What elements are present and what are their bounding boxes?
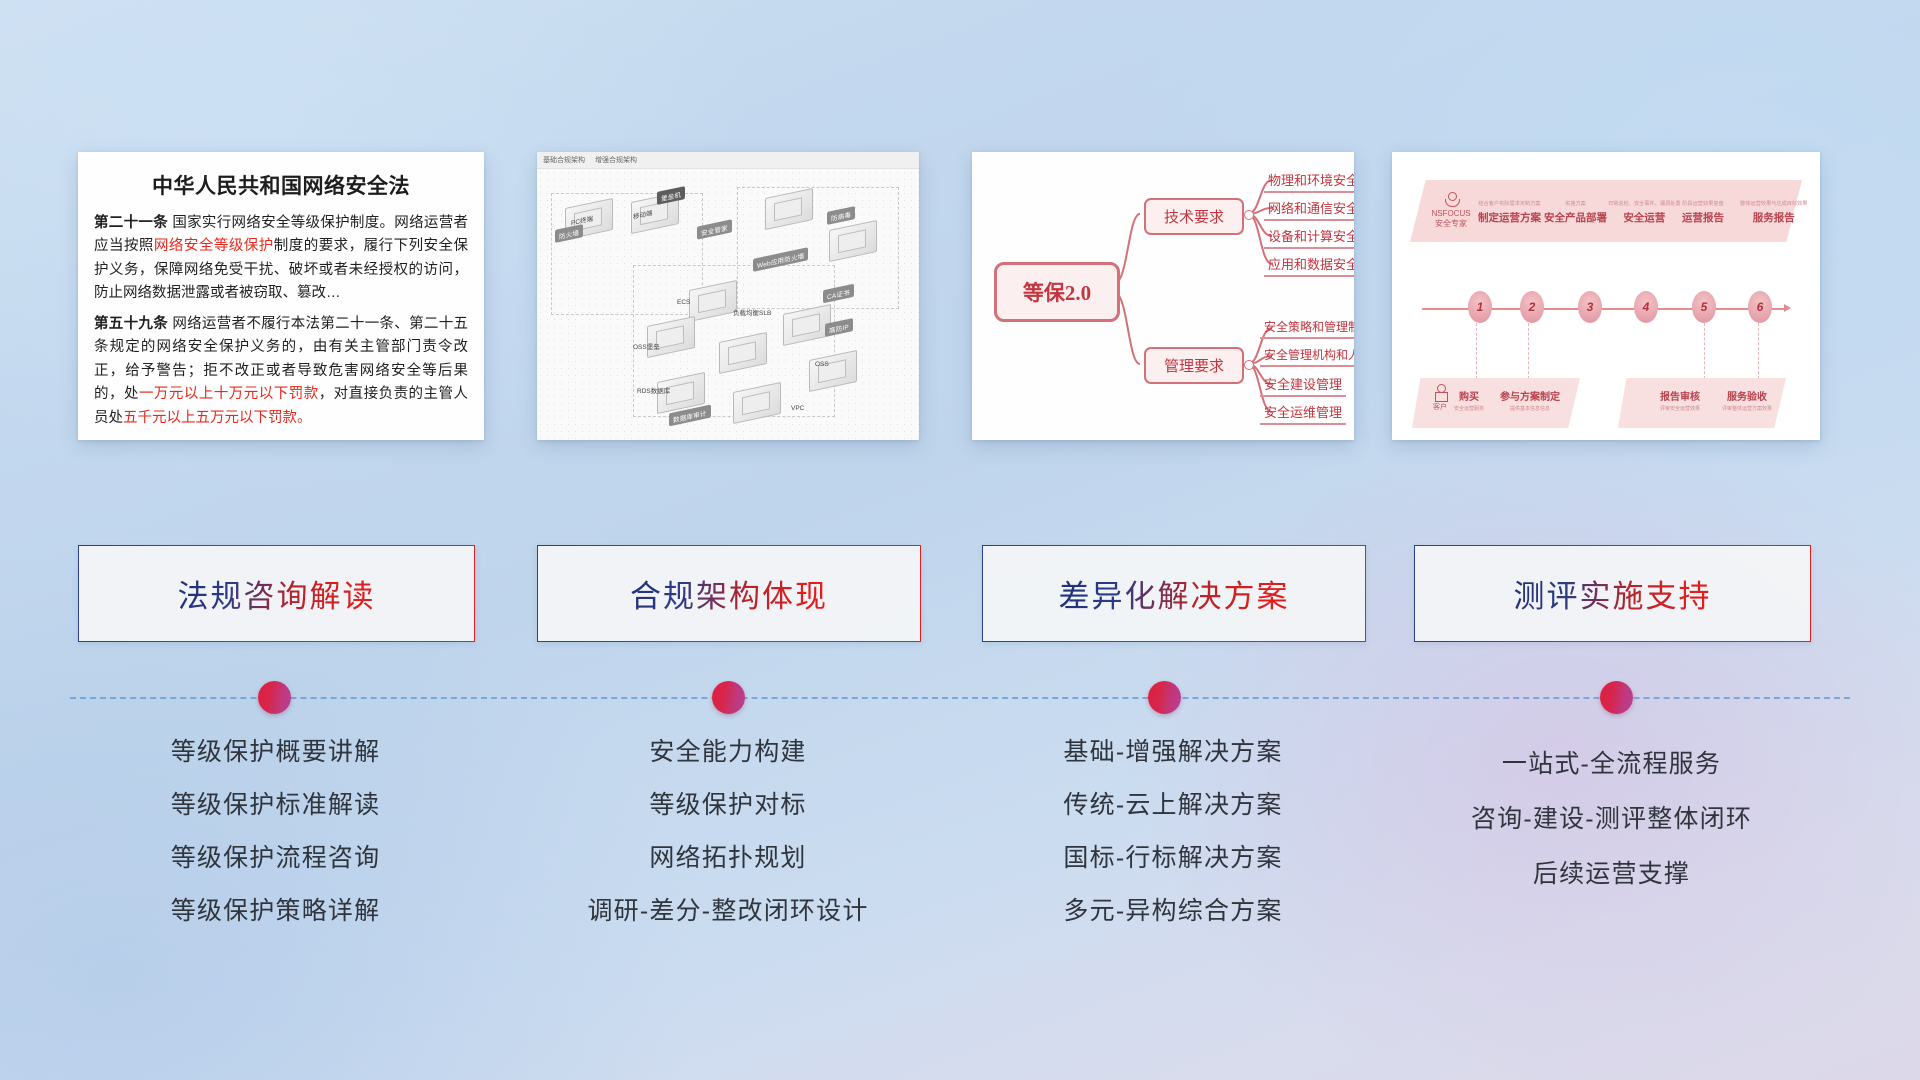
law-article-21: 第二十一条 国家实行网络安全等级保护制度。网络运营者应当按照网络安全等级保护制度… <box>94 212 468 306</box>
timeline-node-3[interactable] <box>1148 681 1181 714</box>
timeline-marker[interactable]: 5 <box>1692 291 1716 323</box>
list-item: 等级保护标准解读 <box>78 793 473 818</box>
step-main: 运营报告 <box>1682 210 1724 225</box>
label-vpc: VPC <box>791 405 804 412</box>
timeline-dashed-line <box>70 697 1850 699</box>
card-cloud-architecture[interactable]: 基础合规架构 增强合规架构 <box>537 152 919 440</box>
timeline-leader <box>1476 323 1478 379</box>
list-item: 传统-云上解决方案 <box>982 793 1364 818</box>
label-oss-bastion: OSS堡垒 <box>633 341 660 351</box>
mindmap-leaf: 安全运维管理 <box>1260 402 1346 425</box>
slide-canvas: 中华人民共和国网络安全法 第二十一条 国家实行网络安全等级保护制度。网络运营者应… <box>0 0 1920 1080</box>
label-ecs: ECS <box>677 299 690 306</box>
architecture-toolbar: 基础合规架构 增强合规架构 <box>537 152 919 169</box>
timeline-marker[interactable]: 2 <box>1520 291 1544 323</box>
step-sub: 实施方案 <box>1544 200 1607 207</box>
law-title: 中华人民共和国网络安全法 <box>94 170 468 200</box>
list-item: 国标-行标解决方案 <box>982 846 1364 871</box>
step-sub: 日常巡检、安全事件、漏洞处置 <box>1608 200 1681 207</box>
label-slb: 负载均衡SLB <box>733 307 771 317</box>
list-item: 安全能力构建 <box>537 740 919 765</box>
section-header-label: 法规咨询解读 <box>178 571 376 616</box>
timeline-bottom-step: 购买 安全运营服务 <box>1454 388 1484 412</box>
mindmap-leaf: 安全策略和管理制度 <box>1260 318 1354 339</box>
article-59-highlight-2: 五千元以上五万元以下罚款。 <box>123 410 312 426</box>
timeline-top-step: 阶段运营效果复盘 运营报告 <box>1682 200 1724 225</box>
list-item: 等级保护概要讲解 <box>78 740 473 765</box>
customer-person-icon <box>1434 384 1447 401</box>
architecture-canvas: 堡垒机 防火墙 安全管家 防病毒 Web应用防火墙 CA证书 高防IP 数据库审… <box>537 169 919 440</box>
step-sub: 整体运营效果与达成目标效果 <box>1740 200 1807 207</box>
mindmap-branch-technical[interactable]: 技术要求 <box>1144 198 1244 235</box>
card-row: 中华人民共和国网络安全法 第二十一条 国家实行网络安全等级保护制度。网络运营者应… <box>0 0 1920 460</box>
section-header-label: 差异化解决方案 <box>1059 571 1290 616</box>
card-nsfocus-service-timeline[interactable]: NSFOCUS 安全专家 结合客户实际需求定制方案 制定运营方案 实施方案 安全… <box>1392 152 1820 440</box>
step-main: 安全运营 <box>1608 210 1681 225</box>
law-document: 中华人民共和国网络安全法 第二十一条 国家实行网络安全等级保护制度。网络运营者应… <box>78 152 484 440</box>
mindmap-leaf: 物理和环境安全 <box>1264 170 1354 193</box>
mindmap-leaf: 设备和计算安全 <box>1264 226 1354 249</box>
card-cybersecurity-law[interactable]: 中华人民共和国网络安全法 第二十一条 国家实行网络安全等级保护制度。网络运营者应… <box>78 152 484 440</box>
label-oss: OSS <box>815 361 829 368</box>
article-21-label: 第二十一条 <box>94 215 168 231</box>
expert-brand: NSFOCUS <box>1422 209 1480 219</box>
section-header-3[interactable]: 差异化解决方案 <box>982 545 1366 642</box>
law-article-59: 第五十九条 网络运营者不履行本法第二十一条、第二十五条规定的网络安全保护义务的，… <box>94 313 468 430</box>
article-59-label: 第五十九条 <box>94 316 168 332</box>
timeline-node-4[interactable] <box>1600 681 1633 714</box>
step-sub: 结合客户实际需求定制方案 <box>1478 200 1541 207</box>
step-main: 报告审核 <box>1660 388 1700 403</box>
list-item: 一站式-全流程服务 <box>1414 752 1809 777</box>
expert-badge: NSFOCUS 安全专家 <box>1422 192 1480 229</box>
mindmap-leaf: 安全建设管理 <box>1260 374 1346 397</box>
timeline-top-step: 实施方案 安全产品部署 <box>1544 200 1607 225</box>
step-sub: 评审整体运营方案效果 <box>1722 405 1772 412</box>
list-item: 调研-差分-整改闭环设计 <box>537 899 919 924</box>
timeline-leader <box>1758 323 1760 379</box>
feature-list-4: 一站式-全流程服务 咨询-建设-测评整体闭环 后续运营支撑 <box>1414 752 1809 917</box>
step-sub: 阶段运营效果复盘 <box>1682 200 1724 207</box>
timeline-bottom-step: 报告审核 评审安全运营效果 <box>1660 388 1700 412</box>
timeline-leader <box>1528 323 1530 379</box>
feature-list-2: 安全能力构建 等级保护对标 网络拓扑规划 调研-差分-整改闭环设计 <box>537 740 919 952</box>
list-item: 咨询-建设-测评整体闭环 <box>1414 807 1809 832</box>
expert-person-icon <box>1444 192 1459 207</box>
timeline-top-step: 整体运营效果与达成目标效果 服务报告 <box>1740 200 1807 225</box>
step-main: 购买 <box>1454 388 1484 403</box>
list-item: 网络拓扑规划 <box>537 846 919 871</box>
mindmap-branch-management[interactable]: 管理要求 <box>1144 347 1244 384</box>
step-main: 服务报告 <box>1740 210 1807 225</box>
expert-role: 安全专家 <box>1422 219 1480 229</box>
toolbar-label-enhanced: 增强合规架构 <box>595 155 637 165</box>
mindmap-leaf: 应用和数据安全 <box>1264 254 1354 277</box>
timeline-marker[interactable]: 1 <box>1468 291 1492 323</box>
section-header-label: 测评实施支持 <box>1514 571 1712 616</box>
label-rds: RDS数据库 <box>637 385 670 395</box>
toolbar-label-basic: 基础合规架构 <box>543 155 585 165</box>
step-main: 安全产品部署 <box>1544 210 1607 225</box>
timeline-marker[interactable]: 4 <box>1634 291 1658 323</box>
list-item: 等级保护流程咨询 <box>78 846 473 871</box>
step-main: 参与方案制定 <box>1500 388 1560 403</box>
feature-list-3: 基础-增强解决方案 传统-云上解决方案 国标-行标解决方案 多元-异构综合方案 <box>982 740 1364 952</box>
section-header-1[interactable]: 法规咨询解读 <box>78 545 475 642</box>
timeline-marker[interactable]: 6 <box>1748 291 1772 323</box>
mindmap: 等保2.0 技术要求 物理和环境安全 网络和通信安全 设备和计算安全 应用和数据… <box>972 152 1354 440</box>
mindmap-knob-icon[interactable] <box>1244 210 1254 220</box>
section-header-label: 合规架构体现 <box>630 571 828 616</box>
timeline-node-1[interactable] <box>258 681 291 714</box>
list-item: 多元-异构综合方案 <box>982 899 1364 924</box>
timeline-marker[interactable]: 3 <box>1578 291 1602 323</box>
mindmap-knob-icon[interactable] <box>1244 360 1254 370</box>
list-item: 等级保护对标 <box>537 793 919 818</box>
timeline-top-step: 日常巡检、安全事件、漏洞处置 安全运营 <box>1608 200 1681 225</box>
card-mindmap-dengbao[interactable]: 等保2.0 技术要求 物理和环境安全 网络和通信安全 设备和计算安全 应用和数据… <box>972 152 1354 440</box>
list-item: 后续运营支撑 <box>1414 862 1809 887</box>
timeline-arrow-icon <box>1784 304 1791 312</box>
step-main: 制定运营方案 <box>1478 210 1541 225</box>
timeline-leader <box>1704 323 1706 379</box>
mindmap-leaf: 安全管理机构和人员 <box>1260 346 1354 367</box>
article-59-highlight-1: 一万元以上十万元以下罚款 <box>139 386 319 402</box>
step-sub: 评审安全运营效果 <box>1660 405 1700 412</box>
step-sub: 安全运营服务 <box>1454 405 1484 412</box>
architecture-diagram: 基础合规架构 增强合规架构 <box>537 152 919 440</box>
mindmap-leaf: 网络和通信安全 <box>1264 198 1354 221</box>
section-header-2[interactable]: 合规架构体现 <box>537 545 921 642</box>
section-header-4[interactable]: 测评实施支持 <box>1414 545 1811 642</box>
timeline-top-step: 结合客户实际需求定制方案 制定运营方案 <box>1478 200 1541 225</box>
timeline-bottom-step: 服务验收 评审整体运营方案效果 <box>1722 388 1772 412</box>
step-sub: 提供基本信息信息 <box>1500 405 1560 412</box>
feature-list-1: 等级保护概要讲解 等级保护标准解读 等级保护流程咨询 等级保护策略详解 <box>78 740 473 952</box>
mindmap-root[interactable]: 等保2.0 <box>994 262 1120 322</box>
timeline-node-2[interactable] <box>712 681 745 714</box>
article-21-highlight: 网络安全等级保护 <box>154 238 274 254</box>
timeline-bottom-step: 参与方案制定 提供基本信息信息 <box>1500 388 1560 412</box>
service-timeline: NSFOCUS 安全专家 结合客户实际需求定制方案 制定运营方案 实施方案 安全… <box>1392 152 1820 440</box>
step-main: 服务验收 <box>1722 388 1772 403</box>
list-item: 基础-增强解决方案 <box>982 740 1364 765</box>
list-item: 等级保护策略详解 <box>78 899 473 924</box>
